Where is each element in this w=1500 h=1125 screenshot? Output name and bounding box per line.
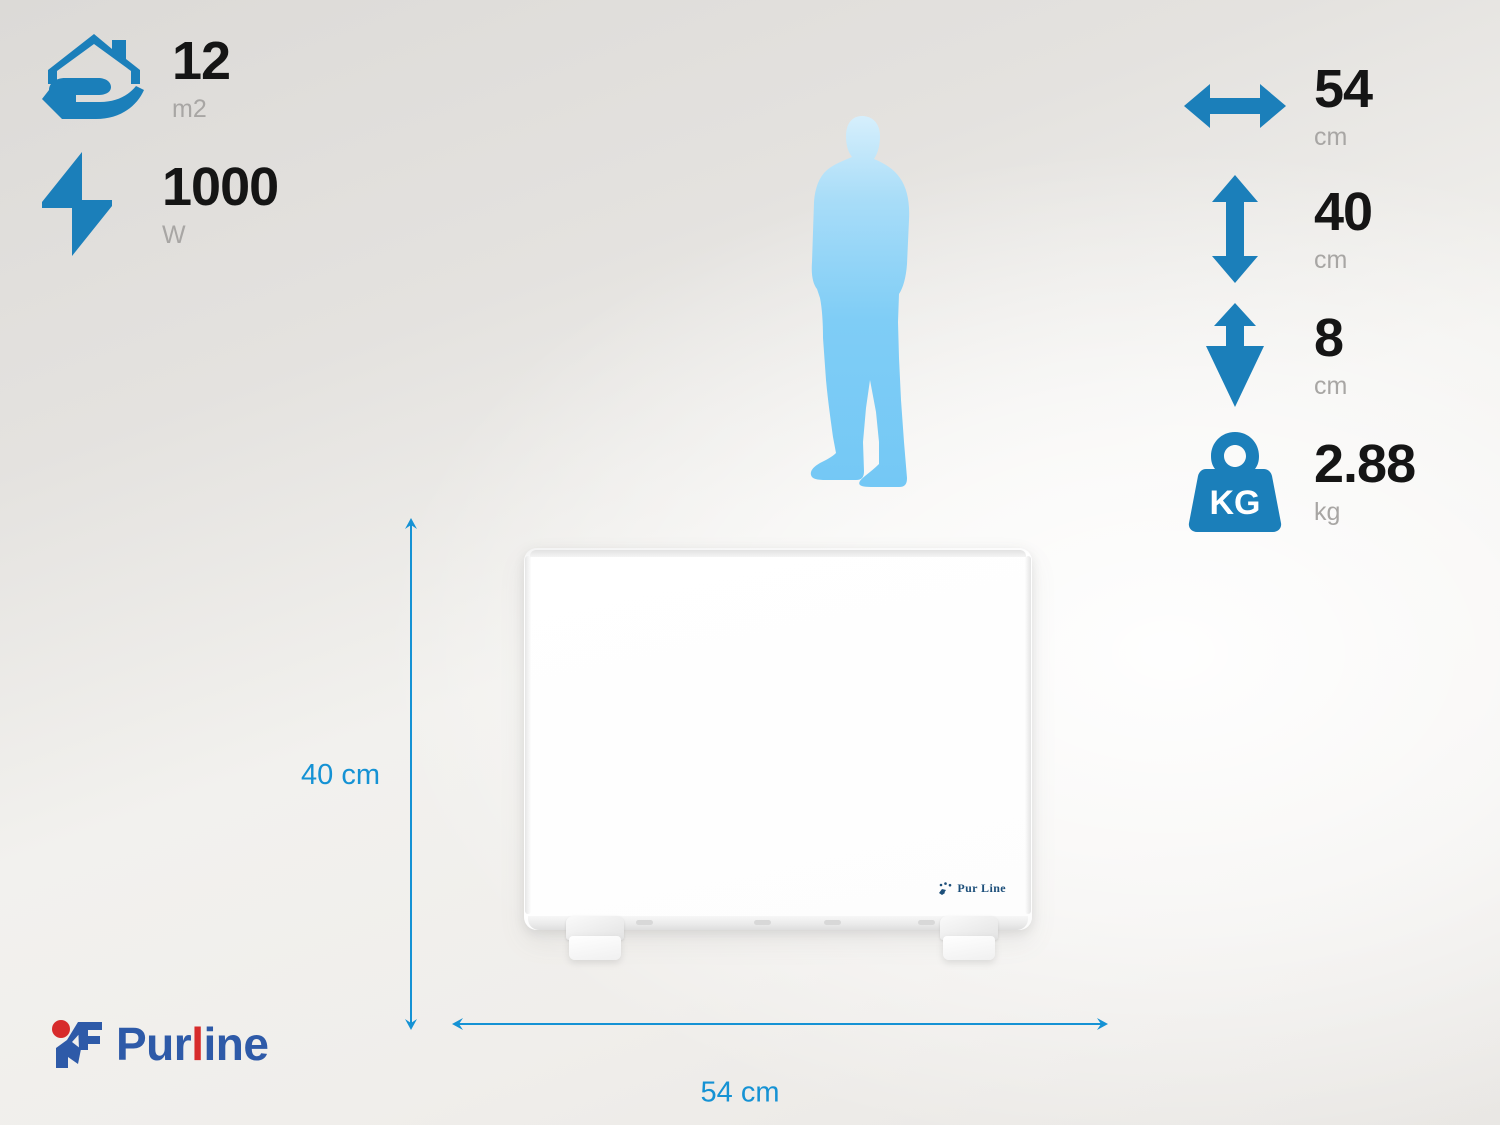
heater-foot-left: [564, 916, 626, 962]
spec-width-value: 54: [1314, 62, 1372, 116]
infographic-canvas: 12 m2 1000 W 54 cm: [0, 0, 1500, 1125]
spec-weight-unit: kg: [1314, 500, 1415, 525]
lightning-bolt-icon: [38, 150, 116, 258]
spec-height-unit: cm: [1314, 248, 1372, 273]
spec-weight-value: 2.88: [1314, 437, 1415, 491]
spec-heating-area-value: 12: [172, 34, 230, 88]
dimension-line-height-stroke: [410, 524, 412, 1024]
spec-power-unit: W: [162, 223, 278, 248]
heater-vent-slot: [636, 920, 653, 925]
spec-depth-unit: cm: [1314, 374, 1347, 399]
heater-foot-right: [938, 916, 1000, 962]
brand-logo: Purline: [48, 1018, 268, 1070]
human-scale-silhouette: [800, 112, 925, 487]
spec-depth-value: 8: [1314, 311, 1347, 365]
vertical-double-arrow-icon: [1180, 172, 1290, 286]
spec-heating-area: 12 m2: [38, 28, 230, 128]
spec-power-value: 1000: [162, 160, 278, 214]
product-heater: Pur Line: [524, 548, 1032, 968]
spec-width-text: 54 cm: [1314, 62, 1372, 150]
dimension-label-width: 54 cm: [701, 1077, 780, 1110]
dimension-line-width-stroke: [458, 1023, 1102, 1025]
pur-line-mark-icon: [937, 882, 953, 896]
spec-width: 54 cm: [1180, 62, 1372, 150]
heater-vent-slot: [824, 920, 841, 925]
vertical-depth-arrow-icon: [1180, 300, 1290, 410]
weight-icon-label: KG: [1210, 484, 1261, 522]
house-hand-icon: [38, 28, 150, 128]
dimension-line-height: [404, 518, 418, 1030]
spec-power-text: 1000 W: [162, 160, 278, 248]
heater-foot-base: [569, 936, 621, 960]
dimension-line-width: [452, 1017, 1108, 1031]
heater-right-edge: [1025, 556, 1031, 914]
heater-vent-slot: [754, 920, 771, 925]
weight-kg-icon: KG: [1180, 428, 1290, 534]
spec-depth-text: 8 cm: [1314, 311, 1347, 399]
heater-foot-base: [943, 936, 995, 960]
purline-figure-icon: [48, 1018, 104, 1070]
spec-heating-area-unit: m2: [172, 97, 230, 122]
heater-left-edge: [525, 556, 531, 914]
brand-name: Purline: [116, 1021, 268, 1067]
spec-weight: KG 2.88 kg: [1180, 428, 1415, 534]
product-brand-logo: Pur Line: [937, 881, 1006, 896]
heater-top-edge: [530, 550, 1026, 557]
spec-width-unit: cm: [1314, 125, 1372, 150]
product-brand-logo-text: Pur Line: [957, 881, 1006, 896]
spec-heating-area-text: 12 m2: [172, 34, 230, 122]
spec-height-text: 40 cm: [1314, 185, 1372, 273]
horizontal-arrow-icon: [1180, 78, 1290, 134]
spec-weight-text: 2.88 kg: [1314, 437, 1415, 525]
heater-vent-slot: [918, 920, 935, 925]
heater-glass-front: [529, 554, 1027, 920]
spec-height-value: 40: [1314, 185, 1372, 239]
dimension-label-height: 40 cm: [301, 759, 380, 792]
spec-depth: 8 cm: [1180, 300, 1347, 410]
spec-height: 40 cm: [1180, 172, 1372, 286]
heater-panel-body: Pur Line: [524, 548, 1032, 930]
spec-power: 1000 W: [38, 150, 278, 258]
